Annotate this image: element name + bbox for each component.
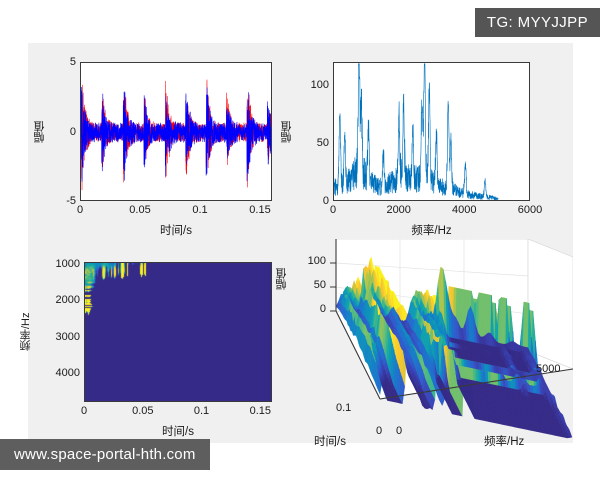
surface-3d-ytick-5000: 5000 <box>536 363 560 375</box>
spectrum-ylabel: 幅值 <box>279 110 295 154</box>
spectrogram-xtick-005: 0.05 <box>132 405 153 417</box>
spectrum-trace <box>334 63 530 201</box>
spectrum-xtick-4000: 4000 <box>452 204 476 216</box>
surface-3d-ztick-0: 0 <box>292 303 326 315</box>
time-domain-ylabel: 幅值 <box>32 110 48 154</box>
time-domain-ytick-5: 5 <box>54 56 76 68</box>
spectrogram-ytick-1000: 1000 <box>42 258 80 270</box>
spectrum-plot-area <box>333 62 530 201</box>
spectrum-xtick-0: 0 <box>330 204 336 216</box>
chart-spectrum: 0 50 100 0 2000 4000 6000 幅值 频率/Hz <box>333 62 530 201</box>
time-domain-xlabel: 时间/s <box>80 222 272 238</box>
spectrum-ytick-0: 0 <box>301 195 329 207</box>
time-domain-xtick-005: 0.05 <box>129 204 150 216</box>
time-domain-xtick-0: 0 <box>77 204 83 216</box>
spectrum-xtick-6000: 6000 <box>518 204 542 216</box>
website-watermark-badge: www.space-portal-hth.com <box>0 439 210 470</box>
spectrum-xtick-2000: 2000 <box>386 204 410 216</box>
spectrogram-plot-area <box>84 262 272 402</box>
spectrum-xlabel: 频率/Hz <box>333 222 530 238</box>
spectrogram-xtick-0: 0 <box>81 405 87 417</box>
surface-3d-ytick-0: 0 <box>396 425 402 437</box>
surface-3d-xtick-0: 0 <box>376 425 382 437</box>
time-domain-plot-area <box>80 62 272 201</box>
spectrogram-ylabel: 频率/Hz <box>18 296 34 368</box>
spectrum-ytick-50: 50 <box>301 137 329 149</box>
spectrogram-xlabel: 时间/s <box>84 423 272 439</box>
time-domain-ytick-0: 0 <box>54 126 76 138</box>
surface-3d-ylabel: 频率/Hz <box>484 433 524 449</box>
surface-3d-tickmarks <box>330 263 336 311</box>
time-domain-traces <box>81 63 272 201</box>
chart-spectrogram: 1000 2000 3000 4000 0 0.05 0.1 0.15 频率/H… <box>84 262 272 402</box>
spectrogram-ytick-4000: 4000 <box>42 367 80 379</box>
surface-3d-xtick-01: 0.1 <box>336 402 351 414</box>
spectrum-ytick-100: 100 <box>301 79 329 91</box>
time-domain-xtick-01: 0.1 <box>192 204 207 216</box>
figure-panel: 5 0 -5 0 0.05 0.1 0.15 幅值 时间/s 0 50 100 … <box>28 43 573 443</box>
surface-3d-canvas <box>314 239 573 439</box>
spectrogram-ytick-2000: 2000 <box>42 294 80 306</box>
chart-time-domain: 5 0 -5 0 0.05 0.1 0.15 幅值 时间/s <box>80 62 272 201</box>
spectrogram-image <box>85 263 272 402</box>
time-domain-xtick-015: 0.15 <box>249 204 270 216</box>
time-domain-ytick-neg5: -5 <box>54 195 76 207</box>
telegram-watermark-badge: TG: MYYJJPP <box>475 8 600 37</box>
spectrogram-xtick-015: 0.15 <box>250 405 271 417</box>
spectrogram-xtick-01: 0.1 <box>194 405 209 417</box>
surface-3d-ztick-50: 50 <box>292 279 326 291</box>
surface-3d-ztick-100: 100 <box>292 255 326 267</box>
chart-surface-3d: 0 50 100 0.1 0 0 5000 幅值 时间/s 频率/Hz <box>314 239 573 439</box>
spectrogram-ytick-3000: 3000 <box>42 331 80 343</box>
surface-3d-zlabel: 幅值 <box>274 257 290 301</box>
surface-3d-xlabel: 时间/s <box>314 433 346 449</box>
